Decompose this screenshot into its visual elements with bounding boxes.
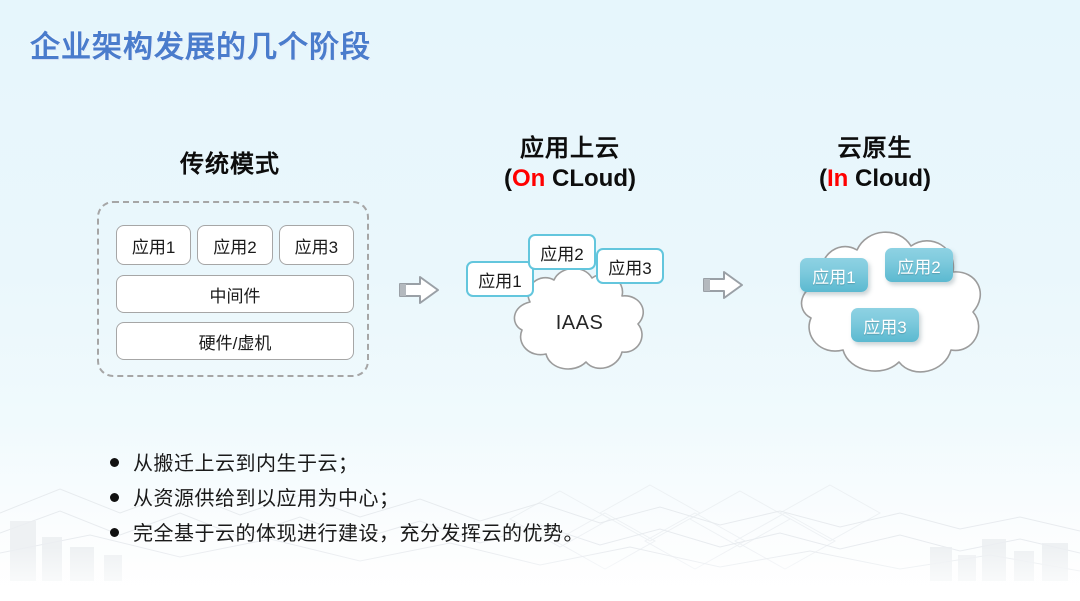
on-cloud-app-3[interactable]: 应用3 [596, 248, 664, 284]
bullet-text-3: 完全基于云的体现进行建设，充分发挥云的优势。 [133, 522, 584, 546]
page-title: 企业架构发展的几个阶段 [30, 22, 371, 66]
right-arrow-icon-1 [398, 274, 440, 306]
on-cloud-en-rest: CLoud) [545, 165, 636, 192]
cloud-native-en-rest: Cloud) [848, 165, 931, 192]
on-cloud-accent-word: On [512, 165, 545, 192]
traditional-app-2[interactable]: 应用2 [197, 225, 272, 265]
traditional-app-1[interactable]: 应用1 [116, 225, 191, 265]
on-cloud-app-2[interactable]: 应用2 [528, 234, 596, 270]
stage-heading-cloud-native: 云原生 (In Cloud) [755, 134, 995, 194]
stage-heading-traditional-cn: 传统模式 [110, 150, 350, 180]
bullet-dot-icon [110, 528, 119, 537]
traditional-hardware-layer[interactable]: 硬件/虚机 [116, 322, 354, 360]
traditional-middleware-layer[interactable]: 中间件 [116, 275, 354, 313]
traditional-stack-container: 应用1 应用2 应用3 中间件 硬件/虚机 [97, 201, 369, 377]
bullet-text-2: 从资源供给到以应用为中心； [133, 487, 400, 511]
list-item: 从资源供给到以应用为中心； [110, 487, 810, 511]
cloud-native-app-3[interactable]: 应用3 [851, 308, 919, 342]
summary-bullet-list: 从搬迁上云到内生于云； 从资源供给到以应用为中心； 完全基于云的体现进行建设，充… [110, 452, 810, 557]
stage-heading-on-cloud: 应用上云 (On CLoud) [450, 134, 690, 194]
cloud-native-app-2[interactable]: 应用2 [885, 248, 953, 282]
slide-canvas: 企业架构发展的几个阶段 传统模式 应用1 应用2 应用3 中间件 硬件/虚机 应… [0, 0, 1080, 601]
cloud-native-paren-open: ( [819, 165, 827, 192]
traditional-app-3[interactable]: 应用3 [279, 225, 354, 265]
stage-heading-cloud-native-en: (In Cloud) [755, 164, 995, 194]
cloud-native-app-1[interactable]: 应用1 [800, 258, 868, 292]
bullet-text-1: 从搬迁上云到内生于云； [133, 452, 359, 476]
bullet-dot-icon [110, 458, 119, 467]
stage-heading-traditional: 传统模式 [110, 150, 350, 180]
stage-heading-cloud-native-cn: 云原生 [755, 134, 995, 164]
on-cloud-paren-open: ( [504, 165, 512, 192]
list-item: 完全基于云的体现进行建设，充分发挥云的优势。 [110, 522, 810, 546]
bullet-dot-icon [110, 493, 119, 502]
traditional-app-row: 应用1 应用2 应用3 [116, 225, 354, 265]
cloud-native-accent-word: In [827, 165, 848, 192]
list-item: 从搬迁上云到内生于云； [110, 452, 810, 476]
on-cloud-app-1[interactable]: 应用1 [466, 261, 534, 297]
right-arrow-icon-2 [702, 269, 744, 301]
stage-heading-on-cloud-cn: 应用上云 [450, 134, 690, 164]
stage-heading-on-cloud-en: (On CLoud) [450, 164, 690, 194]
iaas-cloud-label: IAAS [492, 312, 667, 335]
